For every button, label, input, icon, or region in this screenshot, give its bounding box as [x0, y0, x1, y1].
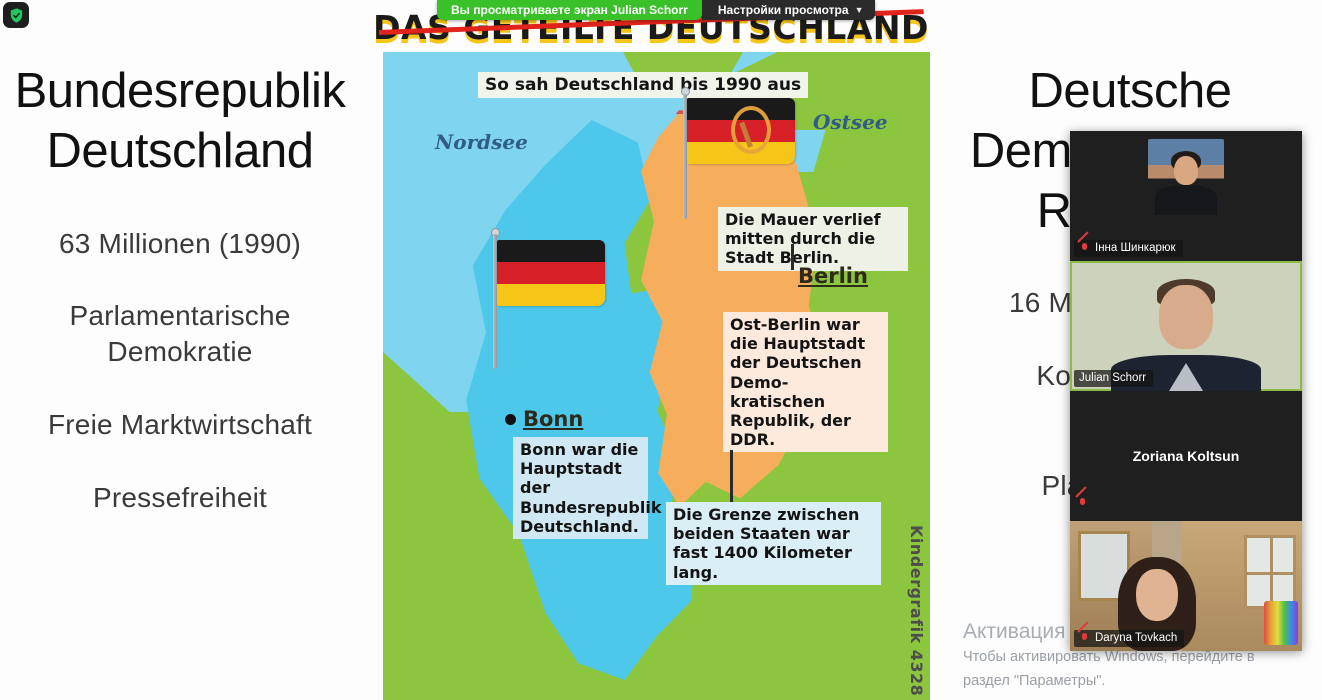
avatar-face — [1174, 156, 1198, 185]
city-label-bonn: Bonn — [523, 407, 583, 431]
ddr-emblem-icon — [731, 106, 771, 154]
participant-name-badge: Daryna Tovkach — [1074, 630, 1184, 647]
slide-left-column: Bundesrepublik Deutschland 63 Millionen … — [0, 62, 370, 553]
left-title-line-1: Bundesrepublik — [0, 62, 370, 122]
zoom-screenshare-topbar: Вы просматриваете экран Julian Schorr На… — [437, 0, 875, 20]
city-label-berlin: Berlin — [798, 264, 868, 288]
zoom-participant-panel[interactable]: Інна Шинкарюк Julian Schorr Zoriana Kolt… — [1070, 131, 1302, 650]
left-line-population: 63 Millionen (1990) — [0, 226, 370, 262]
mic-muted-icon-wrap — [1077, 496, 1088, 514]
mic-muted-icon — [1077, 497, 1088, 509]
participant-tile-daryna[interactable]: Daryna Tovkach — [1070, 521, 1302, 651]
video-background-colorful-object — [1264, 601, 1298, 645]
avatar — [1148, 139, 1224, 215]
view-options-button[interactable]: Настройки просмотра ▼ — [702, 0, 876, 20]
participant-tile-inna[interactable]: Інна Шинкарюк — [1070, 131, 1302, 261]
left-line-government: Parlamentarische Demokratie — [0, 298, 370, 370]
participant-tile-julian[interactable]: Julian Schorr — [1070, 261, 1302, 391]
berlin-leader-line — [791, 244, 794, 270]
mic-muted-icon — [1079, 242, 1090, 254]
callout-border-length: Die Grenze zwischen beiden Staaten war f… — [666, 502, 881, 585]
mic-muted-icon — [1079, 632, 1090, 644]
germany-division-map: DAS GETEILTE DEUTSCHLAND Nordsee Ostsee … — [371, 0, 931, 700]
label-nordsee: Nordsee — [435, 130, 528, 154]
shield-check-icon[interactable] — [3, 2, 29, 28]
label-ostsee: Ostsee — [813, 110, 888, 134]
screenshare-notice: Вы просматриваете экран Julian Schorr — [437, 0, 702, 20]
bonn-city-dot-icon — [505, 414, 516, 425]
left-line-government-b: Demokratie — [0, 334, 370, 370]
participant-name: Julian Schorr — [1079, 372, 1146, 384]
chevron-down-icon: ▼ — [855, 5, 864, 15]
left-column-title: Bundesrepublik Deutschland — [0, 62, 370, 182]
left-line-economy: Freie Marktwirtschaft — [0, 407, 370, 443]
watermark-line-2: раздел "Параметры". — [963, 671, 1255, 692]
left-line-press: Pressefreiheit — [0, 480, 370, 516]
participant-tile-zoriana[interactable]: Zoriana Koltsun — [1070, 391, 1302, 521]
map-headline-caption: So sah Deutschland bis 1990 aus — [478, 72, 808, 98]
right-title-line-1: Deutsche — [935, 62, 1322, 122]
participant-name: Zoriana Koltsun — [1070, 391, 1302, 521]
map-canvas: Nordsee Ostsee So sah Deutschland bis 19… — [383, 52, 930, 700]
left-column-body: 63 Millionen (1990) Parlamentarische Dem… — [0, 226, 370, 516]
view-options-label: Настройки просмотра — [718, 3, 849, 17]
flag-cloth-ddr — [687, 98, 795, 164]
avatar-shoulders — [1155, 185, 1217, 215]
callout-east-berlin-capital: Ost-Berlin war die Hauptstadt der Deutsc… — [723, 312, 888, 452]
video-face — [1159, 285, 1213, 349]
participant-name-badge: Julian Schorr — [1074, 370, 1153, 387]
map-credit: Kindergrafik 4328 — [907, 525, 926, 696]
participant-name-badge: Інна Шинкарюк — [1074, 240, 1183, 257]
participant-name: Інна Шинкарюк — [1095, 242, 1176, 254]
video-background-window — [1244, 535, 1296, 609]
left-title-line-2: Deutschland — [0, 122, 370, 182]
flag-cloth-germany — [497, 240, 605, 306]
left-line-government-a: Parlamentarische — [0, 298, 370, 334]
screen-root: Bundesrepublik Deutschland 63 Millionen … — [0, 0, 1322, 700]
video-face — [1136, 569, 1178, 621]
participant-name: Daryna Tovkach — [1095, 632, 1177, 644]
border-leader-line — [730, 450, 733, 502]
callout-berlin-wall: Die Mauer verlief mitten durch die Stadt… — [718, 207, 908, 271]
callout-bonn-capital: Bonn war die Hauptstadt der Bundesrepubl… — [513, 437, 648, 539]
